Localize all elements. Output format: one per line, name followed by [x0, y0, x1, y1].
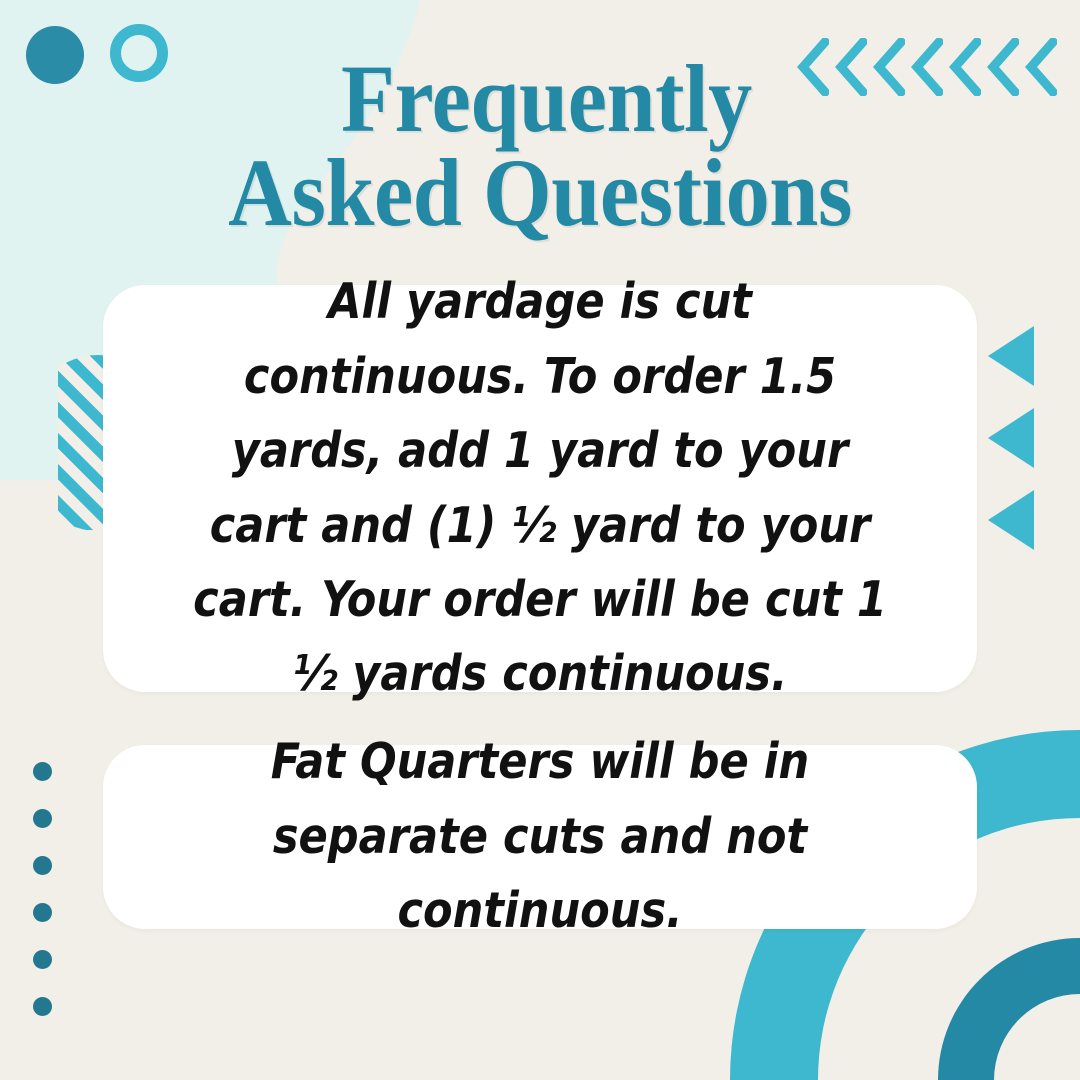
- faq-card-1: All yardage is cut continuous. To order …: [103, 285, 977, 692]
- arc-dark-teal: [938, 938, 1080, 1080]
- decorative-dot: [33, 762, 52, 781]
- decorative-dot: [33, 997, 52, 1016]
- decorative-dot: [33, 856, 52, 875]
- page-title-line-2: Asked Questions: [43, 146, 1037, 240]
- decorative-dot: [33, 950, 52, 969]
- triangle-left-column: [988, 326, 1034, 550]
- triangle-left-icon: [988, 326, 1034, 386]
- faq-card-2: Fat Quarters will be in separate cuts an…: [103, 745, 977, 929]
- decorative-dot: [33, 903, 52, 922]
- faq-graphic: Frequently Asked Questions All yardage i…: [0, 0, 1080, 1080]
- faq-card-2-text: Fat Quarters will be in separate cuts an…: [155, 725, 924, 948]
- triangle-left-icon: [988, 408, 1034, 468]
- triangle-left-icon: [988, 490, 1034, 550]
- faq-card-1-text: All yardage is cut continuous. To order …: [155, 265, 924, 712]
- dot-column: [33, 762, 52, 1016]
- page-title: Frequently Asked Questions: [43, 52, 1037, 240]
- page-title-line-1: Frequently: [43, 52, 1037, 146]
- decorative-dot: [33, 809, 52, 828]
